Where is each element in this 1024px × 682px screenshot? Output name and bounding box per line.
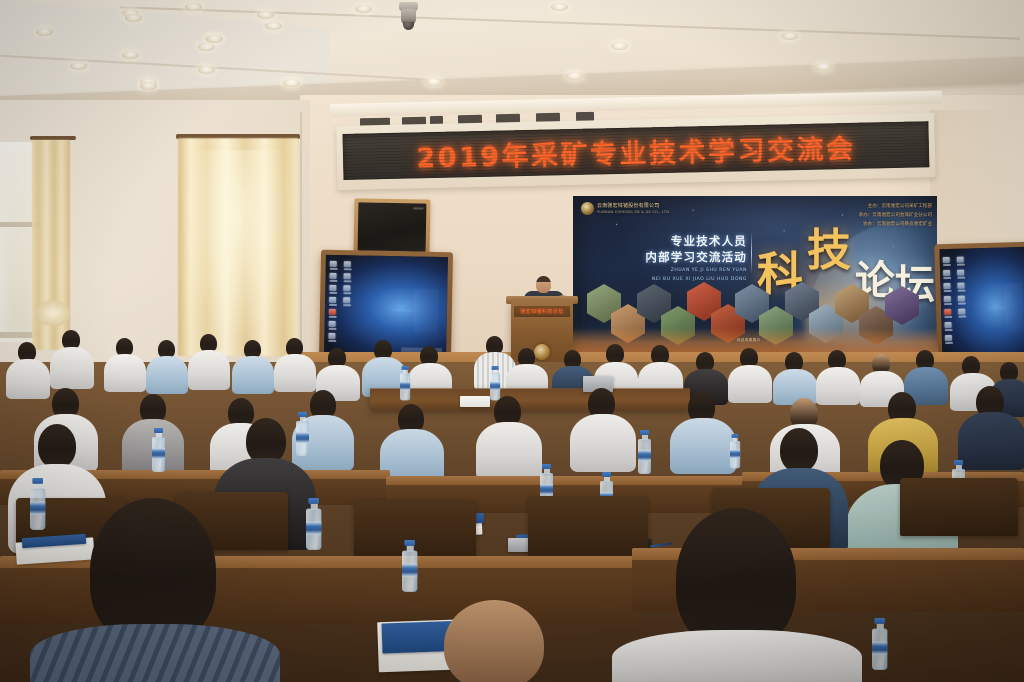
attendee-head-foreground	[90, 498, 216, 644]
attendee-torso	[6, 359, 50, 399]
attendee-head	[38, 424, 76, 468]
stage-backdrop-banner: 云南驰宏锌锗股份有限公司 YUNNAN CHIHONG ZN & GE CO.,…	[573, 196, 937, 354]
attendee-torso	[570, 414, 636, 472]
desktop-icon[interactable]	[329, 273, 336, 282]
wall-mounted-panel	[354, 198, 431, 255]
ceiling-downlight	[781, 32, 798, 40]
ceiling-downlight	[425, 78, 442, 86]
right-tv-screen	[939, 247, 1024, 361]
desktop-icon[interactable]	[343, 273, 350, 282]
podium-nameplate: 驰宏锌锗科技论坛	[514, 306, 570, 317]
ceiling-downlight	[198, 66, 215, 74]
desktop-icon[interactable]	[343, 297, 350, 306]
ceiling-downlight	[283, 79, 300, 87]
backdrop-divider	[751, 232, 752, 274]
attendee-head-foreground	[676, 508, 796, 648]
attendee-torso	[146, 356, 188, 394]
desktop-icon[interactable]	[343, 261, 350, 270]
ceiling-downlight	[206, 35, 223, 43]
attendee-torso	[476, 422, 542, 480]
attendee-torso	[188, 350, 230, 390]
ceiling-downlight	[257, 11, 274, 19]
attendee-torso	[816, 367, 860, 405]
wall-panel-indicator-icon	[413, 207, 423, 209]
podium-nameplate-text: 驰宏锌锗科技论坛	[520, 308, 563, 315]
speaker-head	[536, 276, 551, 293]
desktop-icon[interactable]	[957, 270, 964, 279]
ceiling-downlight	[198, 43, 215, 51]
desktop-icon[interactable]	[328, 333, 335, 342]
backdrop-subtitle-line2: 内部学习交流活动	[627, 250, 747, 266]
conference-desk-top	[386, 476, 746, 485]
chair-back	[900, 478, 1018, 536]
company-logo-text: 云南驰宏锌锗股份有限公司 YUNNAN CHIHONG ZN & GE CO.,…	[597, 203, 670, 214]
attendee-torso-foreground	[612, 630, 862, 682]
desktop-icon[interactable]	[329, 285, 336, 294]
backdrop-subtitle-block: 专业技术人员 内部学习交流活动 ZHUAN YE JI SHU REN YUAN…	[627, 234, 747, 283]
attendee-torso	[50, 347, 94, 389]
attendee-head-foreground	[444, 600, 544, 682]
credit-line-organizer: 主办：云南驰宏公司采矿工程部	[858, 202, 932, 211]
desktop-icon[interactable]	[328, 321, 335, 330]
desktop-icon[interactable]	[329, 261, 336, 270]
curtain-sunlight-glow	[182, 150, 294, 340]
attendee-torso-foreground	[30, 624, 280, 682]
desktop-icon[interactable]	[944, 335, 951, 344]
attendee-torso	[104, 354, 146, 392]
attendee-torso	[274, 354, 316, 392]
ceiling-downlight	[122, 51, 139, 59]
desktop-icon[interactable]	[943, 296, 950, 305]
notepad[interactable]	[460, 396, 490, 407]
desktop-icon[interactable]	[956, 257, 963, 266]
desktop-icon[interactable]	[943, 270, 950, 279]
attendee-torso	[728, 365, 772, 403]
desktop-icon[interactable]	[343, 285, 350, 294]
attendee-head	[606, 344, 624, 364]
backdrop-subtitle-line1: 专业技术人员	[627, 234, 747, 250]
desktop-icon[interactable]	[957, 283, 964, 292]
attendee-head	[780, 428, 818, 472]
company-logo-name: 云南驰宏锌锗股份有限公司	[597, 203, 659, 209]
desktop-icon[interactable]	[328, 309, 335, 318]
ceiling-downlight	[70, 62, 87, 70]
ceiling-downlight	[611, 42, 628, 50]
ceiling-downlight	[815, 63, 832, 71]
backdrop-pinyin-line1: ZHUAN YE JI SHU REN YUAN	[627, 267, 747, 274]
desktop-icon-column	[328, 259, 366, 348]
ceiling-downlight	[185, 3, 202, 11]
curtain-tieback[interactable]	[36, 300, 70, 326]
desktop-icon[interactable]	[958, 309, 965, 318]
ceiling-downlight	[566, 72, 583, 80]
company-logo: 云南驰宏锌锗股份有限公司 YUNNAN CHIHONG ZN & GE CO.,…	[581, 201, 665, 216]
ceiling-downlight	[551, 3, 568, 11]
windows-logo-icon	[392, 288, 439, 333]
ceiling-downlight	[265, 22, 282, 30]
title-char-ji: 技	[807, 214, 851, 278]
wall-panel-screen	[358, 202, 427, 251]
right-wall-tv[interactable]	[934, 242, 1024, 367]
ceiling-downlight	[355, 5, 372, 13]
attendee-torso	[232, 356, 274, 394]
desktop-icon[interactable]	[957, 296, 964, 305]
desktop-icon[interactable]	[942, 257, 949, 266]
attendee-torso	[670, 418, 736, 474]
company-logo-subtitle: YUNNAN CHIHONG ZN & GE CO., LTD.	[597, 210, 670, 214]
desktop-icon[interactable]	[943, 283, 950, 292]
chair-back	[528, 496, 648, 558]
wall-corner-seam	[300, 112, 302, 362]
podium-emblem-icon	[534, 344, 550, 360]
desktop-icon[interactable]	[329, 297, 336, 306]
ceiling-downlight	[140, 82, 157, 90]
company-logo-mark-icon	[581, 202, 594, 215]
desktop-icon[interactable]	[944, 322, 951, 331]
ceiling-downlight	[125, 14, 142, 22]
ceiling-downlight	[36, 28, 53, 36]
attendee-torso	[958, 412, 1024, 470]
desktop-icon[interactable]	[944, 309, 951, 318]
windows-logo-icon	[989, 283, 1024, 333]
desktop-icon-column	[942, 253, 971, 352]
conference-room-photo: 2019年采矿专业技术学习交流会 云南驰宏锌锗股份有限公司 YUNNAN CHI…	[0, 0, 1024, 682]
